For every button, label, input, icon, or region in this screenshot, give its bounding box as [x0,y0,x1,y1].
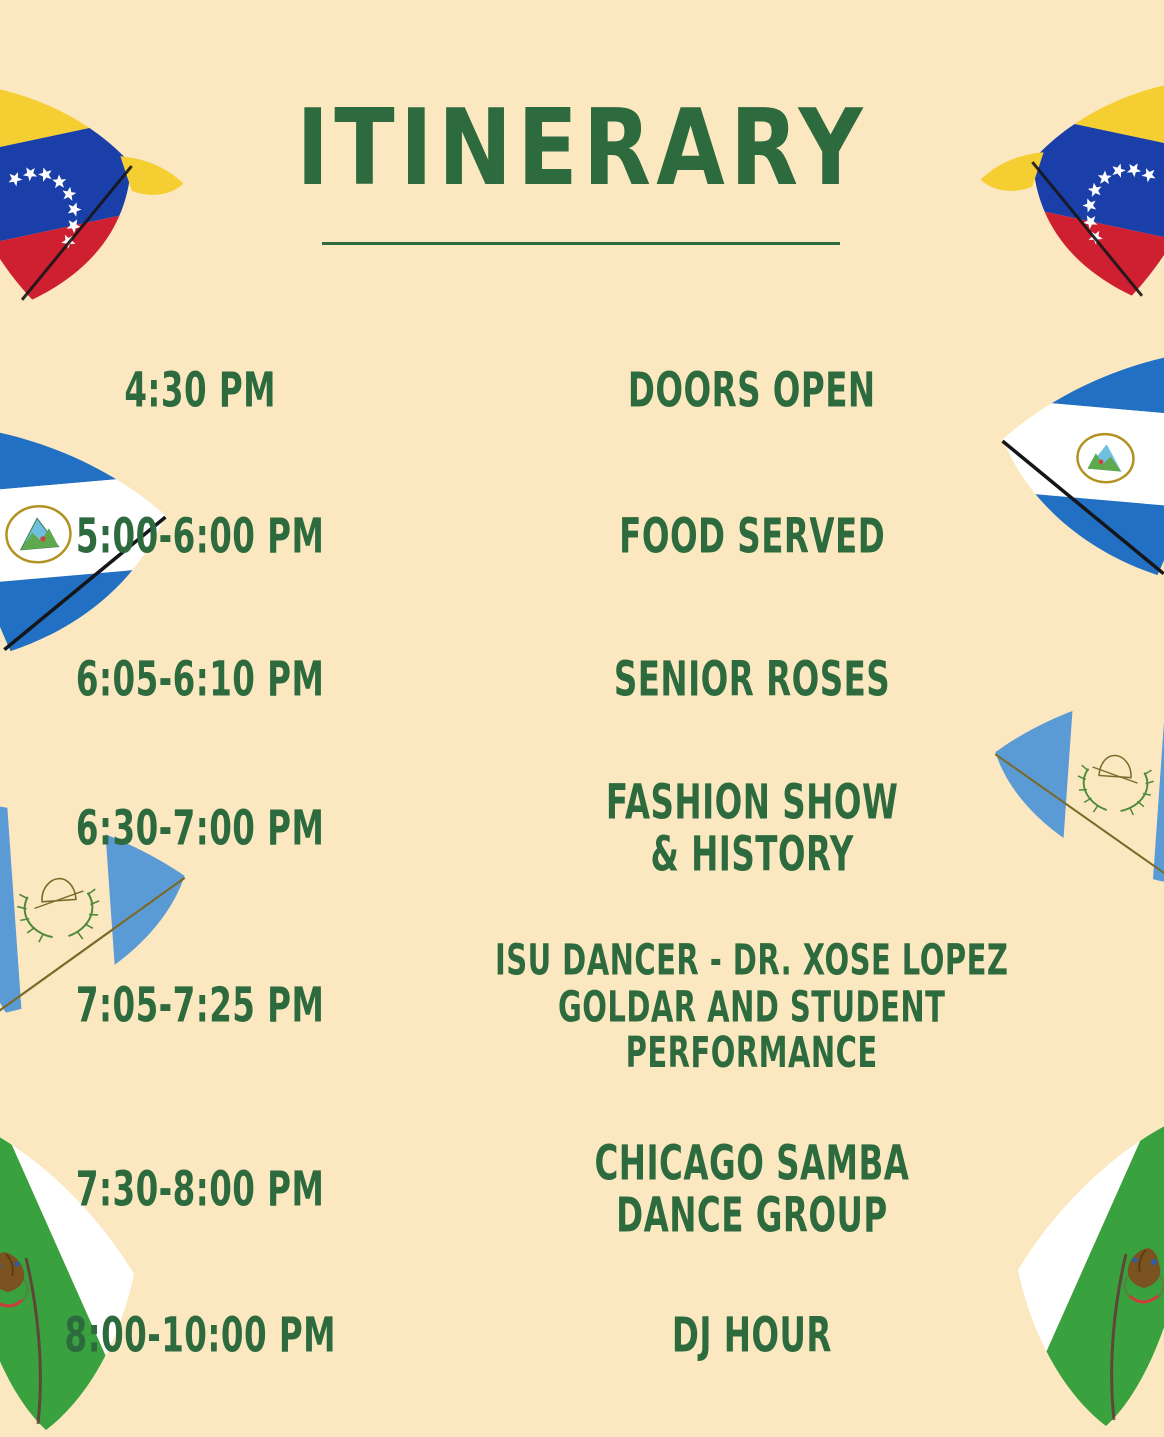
schedule-time: 6:30-7:00 PM [76,803,324,855]
schedule-time-cell: 6:30-7:00 PM [0,809,380,849]
schedule-event: CHICAGO SAMBA DANCE GROUP [595,1138,910,1242]
schedule-time: 7:30-8:00 PM [76,1164,324,1216]
schedule-time: 8:00-10:00 PM [64,1310,335,1362]
schedule-event-cell: SENIOR ROSES [380,660,1164,700]
schedule-event-cell: FASHION SHOW & HISTORY [380,789,1164,869]
schedule-time: 7:05-7:25 PM [76,980,324,1032]
schedule-row: 7:05-7:25 PM ISU DANCER - DR. XOSE LOPEZ… [0,908,1164,1104]
schedule-time: 5:00-6:00 PM [76,511,324,563]
poster-content: ITINERARY 4:30 PM DOORS OPEN 5:00-6:00 P… [0,0,1164,1437]
schedule-row: 4:30 PM DOORS OPEN [0,318,1164,464]
schedule-event: FOOD SERVED [619,511,885,563]
schedule-event-cell: ISU DANCER - DR. XOSE LOPEZ GOLDAR AND S… [380,953,1164,1060]
schedule-event: DJ HOUR [672,1310,832,1362]
schedule-event: SENIOR ROSES [614,654,890,706]
schedule-event-cell: FOOD SERVED [380,517,1164,557]
schedule-event: DOORS OPEN [628,365,876,417]
schedule-event-cell: DJ HOUR [380,1316,1164,1356]
schedule-time-cell: 7:30-8:00 PM [0,1170,380,1210]
schedule-event-cell: CHICAGO SAMBA DANCE GROUP [380,1150,1164,1230]
schedule-event: ISU DANCER - DR. XOSE LOPEZ GOLDAR AND S… [495,937,1008,1076]
schedule-time: 4:30 PM [124,365,276,417]
schedule-event-cell: DOORS OPEN [380,371,1164,411]
schedule-row: 5:00-6:00 PM FOOD SERVED [0,464,1164,610]
schedule-time: 6:05-6:10 PM [76,654,324,706]
page-title: ITINERARY [0,96,1164,201]
schedule-row: 6:30-7:00 PM FASHION SHOW & HISTORY [0,750,1164,908]
itinerary-poster: ITINERARY 4:30 PM DOORS OPEN 5:00-6:00 P… [0,0,1164,1437]
schedule-time-cell: 6:05-6:10 PM [0,660,380,700]
itinerary-schedule: 4:30 PM DOORS OPEN 5:00-6:00 PM FOOD SER… [0,318,1164,1396]
schedule-time-cell: 4:30 PM [0,371,380,411]
schedule-time-cell: 7:05-7:25 PM [0,986,380,1026]
schedule-row: 7:30-8:00 PM CHICAGO SAMBA DANCE GROUP [0,1104,1164,1276]
schedule-time-cell: 8:00-10:00 PM [0,1316,380,1356]
schedule-row: 8:00-10:00 PM DJ HOUR [0,1276,1164,1396]
schedule-row: 6:05-6:10 PM SENIOR ROSES [0,610,1164,750]
schedule-event: FASHION SHOW & HISTORY [606,777,898,881]
title-divider [322,242,840,245]
schedule-time-cell: 5:00-6:00 PM [0,517,380,557]
